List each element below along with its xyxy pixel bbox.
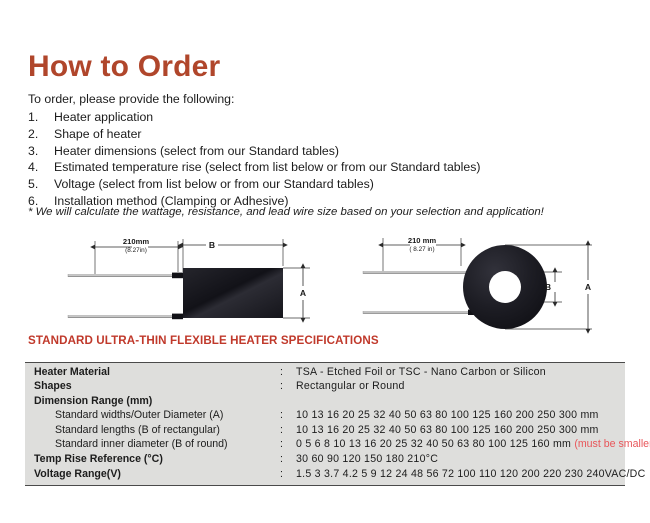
table-row: Heater Material : TSA - Etched Foil or T… bbox=[25, 363, 625, 380]
row-label: Standard inner diameter (B of round) bbox=[25, 438, 280, 450]
row-value-note: (must be smaller than A) bbox=[574, 438, 650, 450]
row-label: Standard widths/Outer Diameter (A) bbox=[25, 409, 280, 421]
row-value-text: 1.5 3 3.7 4.2 5 9 12 24 48 56 72 100 110… bbox=[296, 468, 646, 480]
row-label: Heater Material bbox=[25, 366, 280, 378]
round-lead-length-in: ( 8.27 in) bbox=[409, 246, 434, 253]
row-value: 0 5 6 8 10 13 16 20 25 32 40 50 63 80 10… bbox=[296, 438, 650, 450]
row-label: Shapes bbox=[25, 380, 280, 392]
list-item-label: Heater application bbox=[54, 109, 628, 126]
list-item-label: Estimated temperature rise (select from … bbox=[54, 159, 628, 176]
round-outer-label: A bbox=[585, 282, 591, 292]
list-item-label: Voltage (select from list below or from … bbox=[54, 176, 628, 193]
rect-lead-length-mm: 210mm bbox=[123, 237, 149, 246]
row-value-text: Rectangular or Round bbox=[296, 380, 405, 392]
spec-table-title: STANDARD ULTRA-THIN FLEXIBLE HEATER SPEC… bbox=[28, 334, 379, 347]
row-value-text: 10 13 16 20 25 32 40 50 63 80 100 125 16… bbox=[296, 409, 599, 421]
round-inner-label: B bbox=[545, 282, 551, 292]
list-item-number: 4. bbox=[28, 159, 54, 176]
list-item: 4. Estimated temperature rise (select fr… bbox=[28, 159, 628, 176]
list-item: 2. Shape of heater bbox=[28, 126, 628, 143]
row-value: 10 13 16 20 25 32 40 50 63 80 100 125 16… bbox=[296, 409, 625, 421]
table-row: Shapes : Rectangular or Round bbox=[25, 380, 625, 395]
row-colon: : bbox=[280, 438, 296, 450]
row-value: 10 13 16 20 25 32 40 50 63 80 100 125 16… bbox=[296, 424, 625, 436]
round-heater-diagram: 210 mm ( 8.27 in) B A bbox=[363, 236, 592, 329]
list-item-label: Shape of heater bbox=[54, 126, 628, 143]
rect-width-label: B bbox=[209, 240, 215, 250]
list-item-number: 2. bbox=[28, 126, 54, 143]
spec-table: Heater Material : TSA - Etched Foil or T… bbox=[25, 362, 625, 486]
list-item-number: 1. bbox=[28, 109, 54, 126]
row-colon: : bbox=[280, 424, 296, 436]
table-row: Standard lengths (B of rectangular) : 10… bbox=[25, 424, 625, 439]
round-lead-length-mm: 210 mm bbox=[408, 236, 437, 245]
table-row: Dimension Range (mm) bbox=[25, 395, 625, 410]
list-item: 5. Voltage (select from list below or fr… bbox=[28, 176, 628, 193]
row-label: Dimension Range (mm) bbox=[25, 395, 280, 407]
row-value-text: TSA - Etched Foil or TSC - Nano Carbon o… bbox=[296, 366, 546, 378]
row-colon: : bbox=[280, 380, 296, 392]
rect-lead-length-in: (8.27in) bbox=[125, 247, 147, 254]
row-value-text: 30 60 90 120 150 180 210°C bbox=[296, 453, 438, 465]
diagram-svg: 210mm (8.27in) B A bbox=[0, 224, 650, 344]
row-colon: : bbox=[280, 409, 296, 421]
row-colon: : bbox=[280, 366, 296, 378]
row-label: Standard lengths (B of rectangular) bbox=[25, 424, 280, 436]
row-colon: : bbox=[280, 468, 296, 480]
row-value-text: 0 5 6 8 10 13 16 20 25 32 40 50 63 80 10… bbox=[296, 438, 574, 450]
row-value: TSA - Etched Foil or TSC - Nano Carbon o… bbox=[296, 366, 625, 378]
row-value: 1.5 3 3.7 4.2 5 9 12 24 48 56 72 100 110… bbox=[296, 468, 646, 480]
page-root: How to Order To order, please provide th… bbox=[0, 0, 650, 523]
row-value: 30 60 90 120 150 180 210°C bbox=[296, 453, 625, 465]
footnote-text: * We will calculate the wattage, resista… bbox=[28, 206, 544, 218]
table-row: Temp Rise Reference (°C) : 30 60 90 120 … bbox=[25, 453, 625, 468]
row-value-text: 10 13 16 20 25 32 40 50 63 80 100 125 16… bbox=[296, 424, 599, 436]
rect-height-label: A bbox=[300, 288, 306, 298]
row-label: Voltage Range(V) bbox=[25, 468, 280, 480]
list-item: 1. Heater application bbox=[28, 109, 628, 126]
list-item-number: 5. bbox=[28, 176, 54, 193]
order-steps-list: 1. Heater application 2. Shape of heater… bbox=[28, 109, 628, 210]
intro-text: To order, please provide the following: bbox=[28, 92, 234, 106]
table-row: Voltage Range(V) : 1.5 3 3.7 4.2 5 9 12 … bbox=[25, 468, 625, 485]
row-value: Rectangular or Round bbox=[296, 380, 625, 392]
rectangular-heater-diagram: 210mm (8.27in) B A bbox=[68, 237, 310, 319]
page-title: How to Order bbox=[28, 52, 220, 82]
list-item: 3. Heater dimensions (select from our St… bbox=[28, 143, 628, 160]
heater-diagrams: 210mm (8.27in) B A bbox=[0, 224, 650, 344]
row-label: Temp Rise Reference (°C) bbox=[25, 453, 280, 465]
list-item-label: Heater dimensions (select from our Stand… bbox=[54, 143, 628, 160]
table-row: Standard inner diameter (B of round) : 0… bbox=[25, 438, 625, 453]
table-row: Standard widths/Outer Diameter (A) : 10 … bbox=[25, 409, 625, 424]
row-colon: : bbox=[280, 453, 296, 465]
list-item-number: 3. bbox=[28, 143, 54, 160]
